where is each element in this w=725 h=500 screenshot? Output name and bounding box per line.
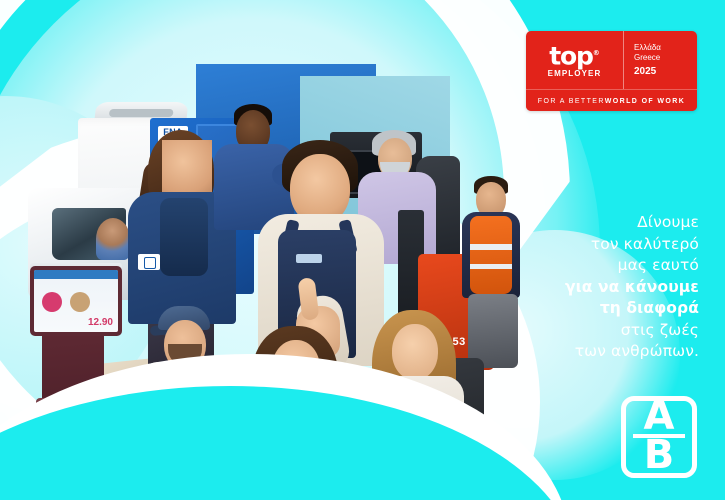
claim-line-2: τον καλύτερό (484, 234, 699, 256)
badge-year: 2025 (634, 66, 697, 77)
person-vest-shirt (160, 198, 208, 276)
claim-line-6: στις ζωές (484, 320, 699, 342)
badge-tagline-bold: WORLD OF WORK (605, 98, 685, 105)
pos-screen-header-bar (34, 270, 118, 279)
person-laptop-face (392, 324, 438, 380)
top-employer-badge: top® EMPLOYER Ελλάδα Greece 2025 FOR A B… (526, 31, 697, 111)
claim-line-5: τη διαφορά (484, 298, 699, 320)
truck-driver (96, 218, 130, 260)
badge-upper: top® EMPLOYER Ελλάδα Greece 2025 (526, 31, 697, 89)
badge-employer-word: EMPLOYER (548, 69, 602, 78)
photo-collage: FNA BY 2021 ΕΙΜΑΣΤΕ ΑΝΟΙΧΤΟΙ 24 ΩΡΕΣ ΤΟ … (0, 58, 520, 466)
claim-text: Δίνουμε τον καλύτερό μας εαυτό για να κά… (484, 212, 699, 363)
badge-top-text: top (549, 41, 592, 70)
poster-canvas: FNA BY 2021 ΕΙΜΑΣΤΕ ΑΝΟΙΧΤΟΙ 24 ΩΡΕΣ ΤΟ … (0, 0, 725, 500)
pos-price-label: 12.90 (88, 317, 113, 328)
claim-line-3: μας εαυτό (484, 255, 699, 277)
claim-line-7: των ανθρώπων. (484, 341, 699, 363)
ab-logo: A B (621, 396, 697, 478)
person-thumbsup-nametag (296, 254, 322, 263)
claim-line-4: για να κάνουμε (484, 277, 699, 299)
badge-country-area: Ελλάδα Greece 2025 (624, 31, 697, 89)
pos-terminal-screen: 12.90 (30, 266, 122, 336)
badge-country-english: Greece (634, 53, 697, 63)
ab-logo-letter-a: A (644, 401, 675, 432)
ab-logo-letter-b: B (644, 440, 675, 471)
pos-product-thumb-2 (70, 292, 90, 312)
badge-tagline-light: FOR A BETTER (538, 98, 605, 105)
badge-tagline-strip: FOR A BETTER WORLD OF WORK (526, 89, 697, 111)
person-vest-ab-badge (138, 254, 160, 270)
badge-top-word: top® (549, 42, 599, 67)
pos-product-thumb-1 (42, 292, 62, 312)
badge-logo-area: top® EMPLOYER (526, 31, 624, 89)
trademark-icon: ® (593, 49, 600, 57)
pos-screen-content: 12.90 (34, 270, 118, 332)
badge-country-greek: Ελλάδα (634, 43, 697, 53)
claim-line-1: Δίνουμε (484, 212, 699, 234)
person-vest-face (162, 140, 212, 200)
